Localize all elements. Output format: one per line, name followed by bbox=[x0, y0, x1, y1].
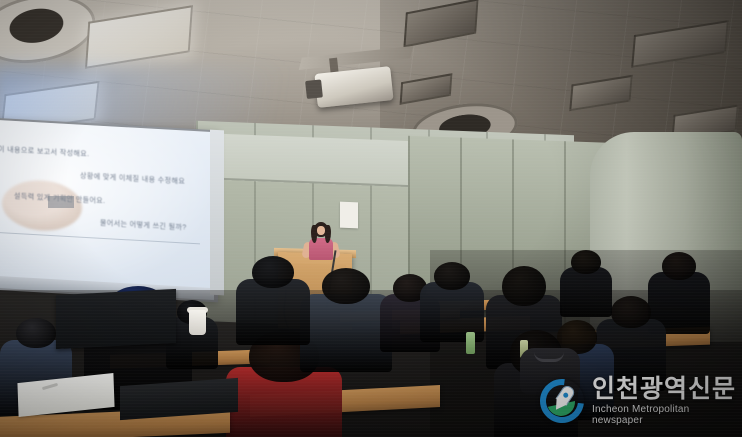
person-torso bbox=[300, 294, 392, 372]
laptop bbox=[56, 289, 176, 349]
watermark-title: 인천광역신문 bbox=[592, 376, 738, 402]
attendee-center-gray bbox=[300, 268, 392, 382]
pen-nib-logo-icon bbox=[540, 379, 584, 423]
lecture-room-photo: 이 내용으로 보고서 작성해요. 상황에 맞게 이체질 내용 수정해요 설득력 … bbox=[0, 0, 742, 437]
attendee-front-dark bbox=[236, 256, 310, 354]
person-head bbox=[502, 266, 546, 306]
projection-screen: 이 내용으로 보고서 작성해요. 상황에 맞게 이체질 내용 수정해요 설득력 … bbox=[0, 120, 214, 298]
person-head bbox=[611, 296, 651, 328]
watermark: 인천광역신문 Incheon Metropolitan newspaper bbox=[540, 372, 738, 430]
attendee-rear-dark bbox=[560, 250, 612, 324]
coffee-cup bbox=[189, 310, 206, 335]
person-head bbox=[434, 262, 470, 290]
person-head bbox=[571, 250, 601, 274]
wall-sign bbox=[340, 202, 358, 229]
drink-bottle bbox=[466, 332, 475, 354]
wall-strip bbox=[210, 130, 224, 296]
person-torso bbox=[236, 279, 310, 345]
person-head bbox=[662, 252, 696, 280]
person-head bbox=[252, 256, 294, 288]
watermark-subtitle: Incheon Metropolitan newspaper bbox=[592, 404, 738, 426]
wall-placard bbox=[48, 196, 74, 208]
person-head bbox=[16, 318, 56, 348]
watermark-text: 인천광역신문 Incheon Metropolitan newspaper bbox=[592, 376, 738, 426]
person-head bbox=[322, 268, 370, 304]
presenter-face bbox=[317, 226, 325, 235]
person-torso bbox=[560, 267, 612, 317]
